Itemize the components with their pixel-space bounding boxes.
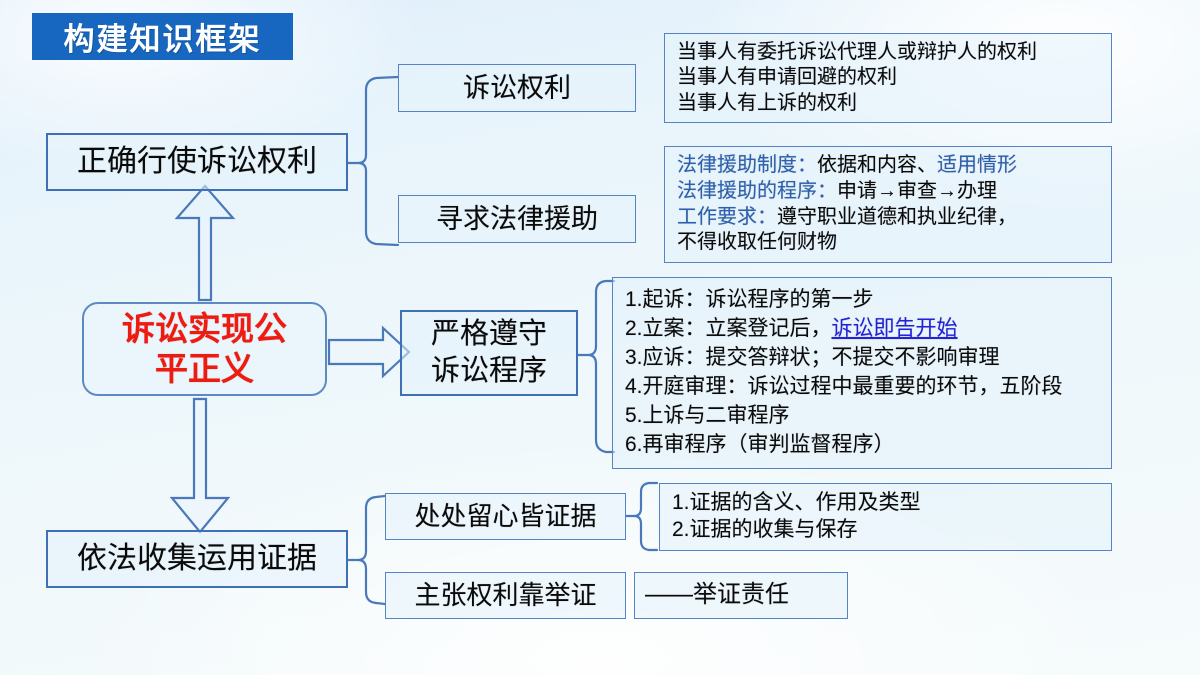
legal-aid-label-1: 法律援助制度：	[677, 154, 817, 176]
detail-panel-burden-of-proof: ——举证责任	[634, 572, 848, 619]
arrow-right-procedure	[329, 328, 409, 376]
procedure-line-1: 1.起诉：诉讼程序的第一步	[625, 286, 874, 315]
brace-evidence-detail	[626, 483, 657, 550]
legal-aid-label-2: 法律援助的程序：	[677, 180, 837, 202]
evidence-detail-line-2: 2.证据的收集与保存	[672, 517, 858, 544]
central-node: 诉讼实现公 平正义	[82, 302, 327, 396]
branch-procedure-line2: 诉讼程序	[431, 353, 547, 390]
detail-panel-legal-aid: 法律援助制度：依据和内容、适用情形 法律援助的程序：申请→审查→办理 工作要求：…	[664, 146, 1112, 263]
legal-aid-line-2: 法律援助的程序：申请→审查→办理	[677, 179, 997, 205]
central-node-line1: 诉讼实现公	[122, 309, 287, 349]
procedure-line-5: 5.上诉与二审程序	[625, 402, 790, 431]
detail-panel-procedure: 1.起诉：诉讼程序的第一步 2.立案：立案登记后，诉讼即告开始 3.应诉：提交答…	[612, 277, 1112, 469]
procedure-line-3: 3.应诉：提交答辩状；不提交不影响审理	[625, 344, 1000, 373]
sub-attention-evidence-label: 处处留心皆证据	[414, 500, 596, 533]
slide-canvas: 构建知识框架 正确行使诉讼权利 诉讼实现公 平正义 严格遵守 诉讼程序 依法收集…	[0, 0, 1200, 675]
branch-evidence-label: 依法收集运用证据	[77, 540, 317, 578]
central-node-line2: 平正义	[122, 349, 287, 389]
procedure-line-2-highlight: 诉讼即告开始	[832, 317, 958, 340]
detail-panel-rights: 当事人有委托诉讼代理人或辩护人的权利 当事人有申请回避的权利 当事人有上诉的权利	[664, 33, 1112, 123]
sub-box-claim-proof: 主张权利靠举证	[385, 572, 626, 619]
legal-aid-text-3: 遵守职业道德和执业纪律，	[777, 206, 1017, 228]
branch-box-procedure: 严格遵守 诉讼程序	[400, 310, 578, 396]
burden-of-proof-label: ——举证责任	[645, 580, 789, 611]
procedure-line-2: 2.立案：立案登记后，诉讼即告开始	[625, 315, 958, 344]
procedure-line-2-text: 2.立案：立案登记后，	[625, 317, 832, 340]
brace-procedure	[578, 281, 614, 452]
branch-rights-label: 正确行使诉讼权利	[77, 143, 317, 181]
sub-claim-proof-label: 主张权利靠举证	[414, 579, 596, 612]
legal-aid-highlight-1: 适用情形	[937, 154, 1017, 176]
legal-aid-text-2: 申请→审查→办理	[837, 180, 997, 202]
legal-aid-label-3: 工作要求：	[677, 206, 777, 228]
brace-rights	[348, 77, 398, 245]
page-title: 构建知识框架	[32, 13, 293, 60]
procedure-line-6: 6.再审程序（审判监督程序）	[625, 431, 895, 460]
rights-detail-line-1: 当事人有委托诉讼代理人或辩护人的权利	[677, 40, 1037, 66]
evidence-detail-line-1: 1.证据的含义、作用及类型	[672, 490, 921, 517]
arrow-down-evidence	[172, 399, 228, 532]
detail-panel-evidence: 1.证据的含义、作用及类型 2.证据的收集与保存	[659, 483, 1112, 551]
brace-evidence	[348, 496, 385, 604]
legal-aid-line-4: 不得收取任何财物	[677, 230, 837, 256]
procedure-line-4: 4.开庭审理：诉讼过程中最重要的环节，五阶段	[625, 373, 1063, 402]
arrow-up-rights	[177, 186, 233, 300]
sub-box-attention-evidence: 处处留心皆证据	[385, 493, 626, 540]
branch-box-rights: 正确行使诉讼权利	[46, 133, 348, 191]
legal-aid-line-1: 法律援助制度：依据和内容、适用情形	[677, 153, 1017, 179]
rights-detail-line-2: 当事人有申请回避的权利	[677, 65, 897, 91]
rights-detail-line-3: 当事人有上诉的权利	[677, 91, 857, 117]
legal-aid-text-1: 依据和内容、	[817, 154, 937, 176]
branch-box-evidence: 依法收集运用证据	[46, 530, 348, 588]
sub-legal-aid-label: 寻求法律援助	[436, 202, 598, 237]
sub-box-legal-aid: 寻求法律援助	[398, 195, 636, 243]
branch-procedure-line1: 严格遵守	[431, 316, 547, 353]
sub-box-litigation-rights: 诉讼权利	[398, 64, 636, 112]
legal-aid-line-3: 工作要求：遵守职业道德和执业纪律，	[677, 205, 1017, 231]
sub-litigation-rights-label: 诉讼权利	[463, 71, 571, 106]
